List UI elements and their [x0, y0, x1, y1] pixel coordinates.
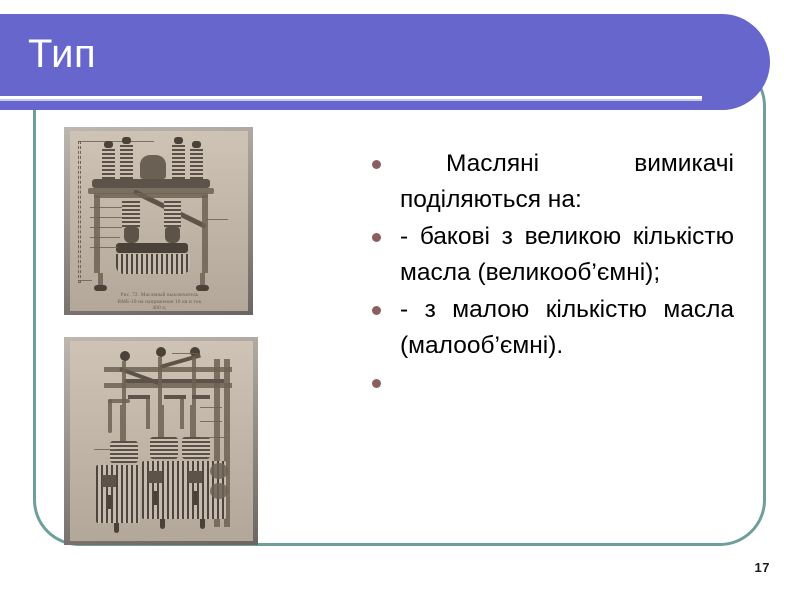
title-divider-shadow — [0, 99, 702, 101]
page-number: 17 — [755, 560, 770, 575]
list-item — [366, 365, 734, 401]
bullet-text: Масляні вимикачі поділяються на: — [400, 150, 734, 213]
list-item: - з малою кількістю масла (малооб’ємні). — [366, 292, 734, 364]
figure-oil-breaker-vmb10: Рис. 72. Масляный выключатель ВМБ-10 на … — [64, 127, 253, 315]
list-item: - бакові з великою кількістю масла (вели… — [366, 219, 734, 291]
title-banner: Тип — [0, 14, 770, 110]
slide-canvas: Тип — [0, 0, 800, 600]
list-item: Масляні вимикачі поділяються на: — [366, 146, 734, 218]
bullet-text: - бакові з великою кількістю масла (вели… — [400, 223, 734, 286]
figure-three-phase-oil-breaker — [64, 337, 258, 545]
figure-caption: Рис. 72. Масляный выключатель ВМБ-10 на … — [70, 292, 249, 312]
bullet-text: - з малою кількістю масла (малооб’ємні). — [400, 296, 734, 359]
page-title: Тип — [28, 30, 96, 78]
bullet-list: Масляні вимикачі поділяються на: - баков… — [366, 146, 734, 402]
